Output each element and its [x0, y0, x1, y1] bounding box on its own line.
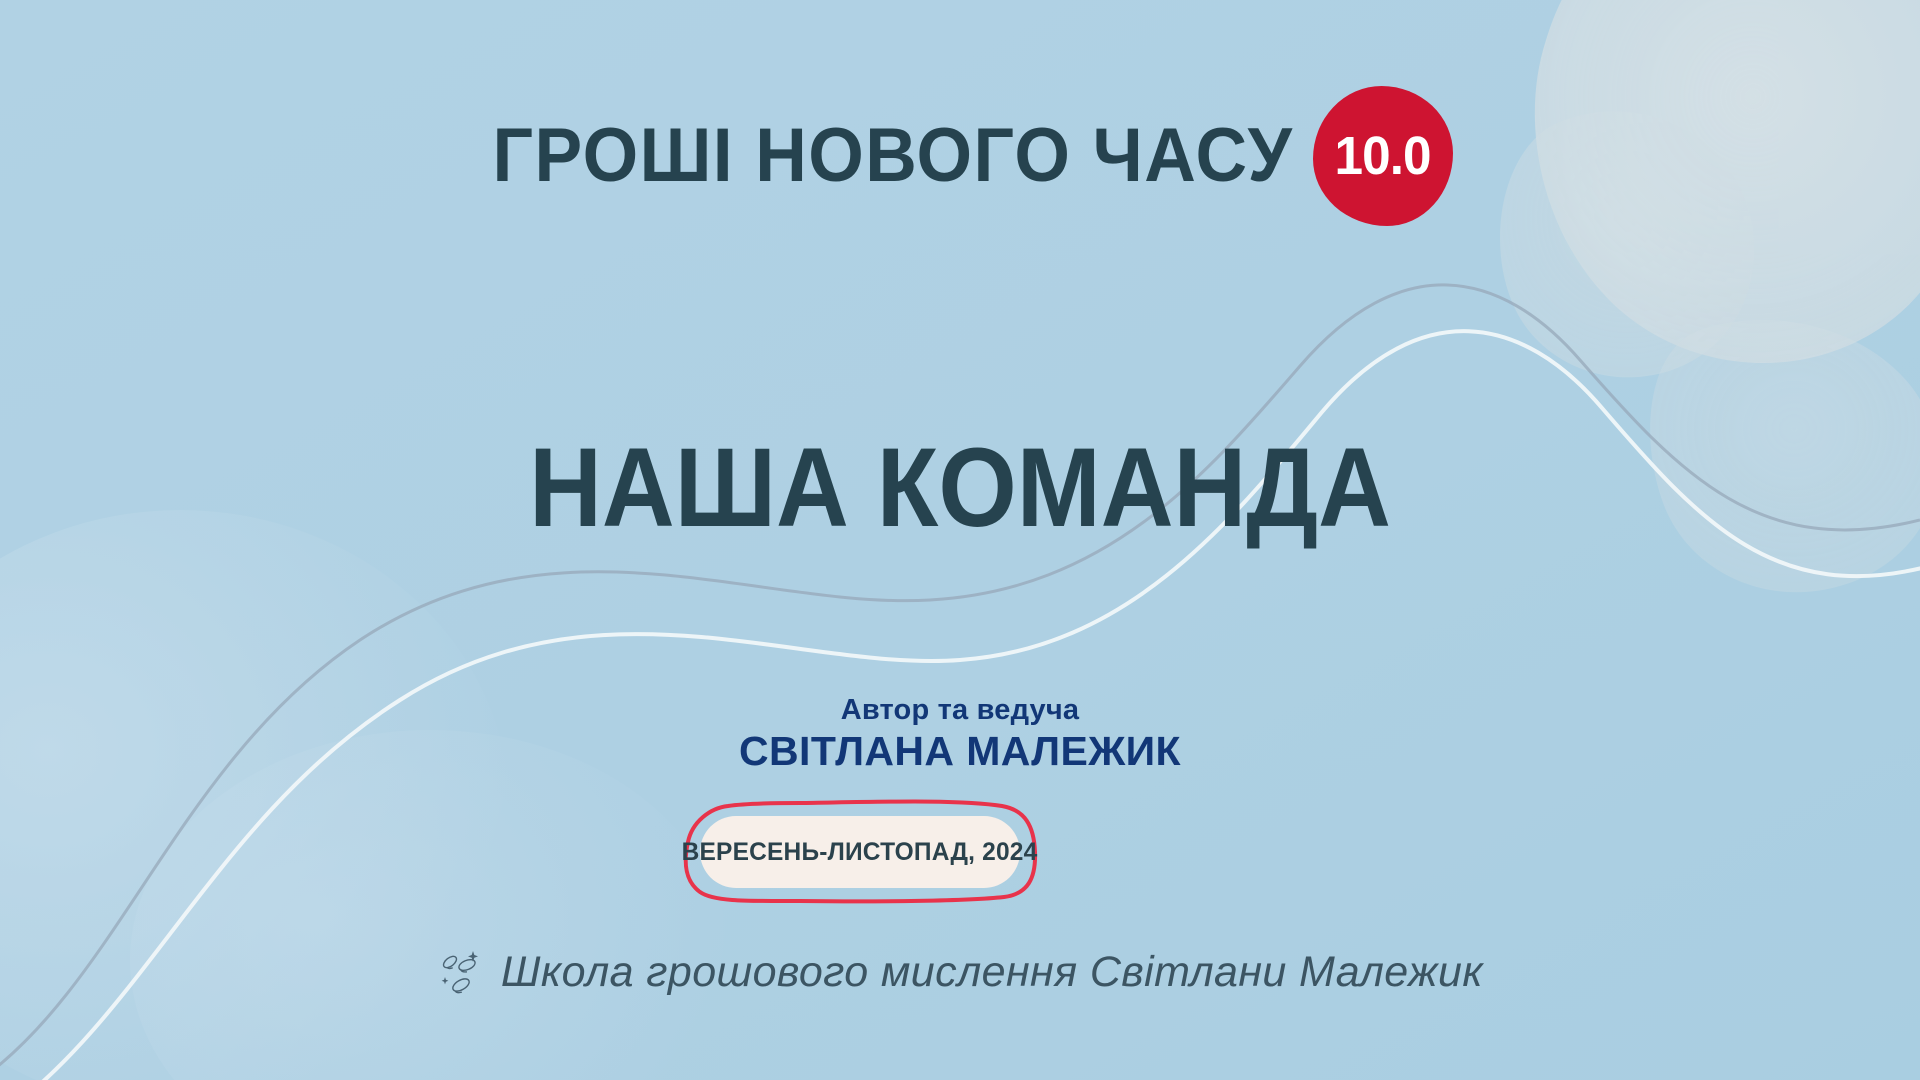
slide-canvas: ГРОШІ НОВОГО ЧАСУ 10.0 НАША КОМАНДА Авто…	[0, 0, 1920, 1080]
footer-text: Школа грошового мислення Світлани Малежи…	[501, 948, 1483, 997]
header-lockup: ГРОШІ НОВОГО ЧАСУ 10.0	[0, 86, 1920, 226]
brand-title: ГРОШІ НОВОГО ЧАСУ	[493, 118, 1294, 194]
author-block: Автор та ведуча СВІТЛАНА МАЛЕЖИК	[0, 694, 1920, 775]
score-badge-value: 10.0	[1335, 129, 1431, 183]
score-badge: 10.0	[1313, 86, 1453, 226]
footer: Школа грошового мислення Світлани Малежи…	[0, 948, 1920, 997]
page-title: НАША КОМАНДА	[96, 432, 1824, 544]
date-badge-pill: ВЕРЕСЕНЬ-ЛИСТОПАД, 2024	[700, 816, 1020, 888]
author-name: СВІТЛАНА МАЛЕЖИК	[0, 729, 1920, 774]
date-badge-text: ВЕРЕСЕНЬ-ЛИСТОПАД, 2024	[682, 838, 1038, 867]
coins-sparkle-icon	[437, 949, 483, 997]
date-badge: ВЕРЕСЕНЬ-ЛИСТОПАД, 2024	[680, 800, 1040, 905]
author-role-label: Автор та ведуча	[0, 694, 1920, 726]
